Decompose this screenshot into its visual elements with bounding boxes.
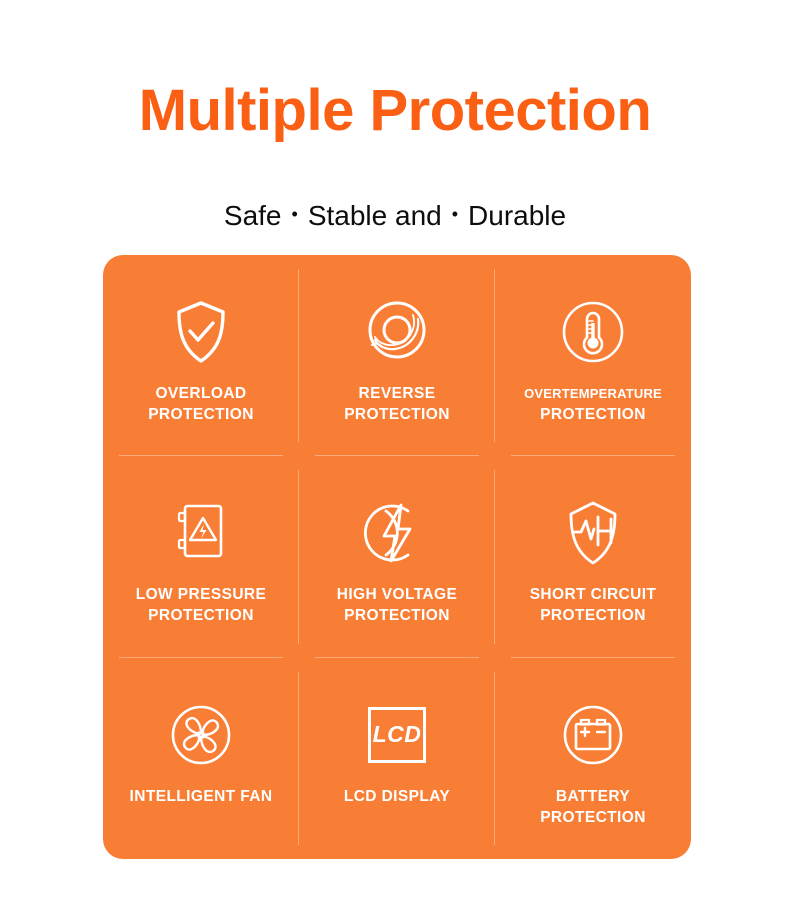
subtitle-part-1: Safe: [224, 200, 282, 231]
feature-cell-battery-protection: BATTERY PROTECTION: [495, 658, 691, 859]
bullet-separator-icon: •: [442, 205, 468, 223]
feature-label-reverse-protection: REVERSE PROTECTION: [344, 383, 450, 425]
feature-cell-reverse-protection: REVERSE PROTECTION: [299, 255, 495, 456]
bullet-separator-icon: •: [282, 205, 308, 223]
feature-cell-high-voltage-protection: HIGH VOLTAGE PROTECTION: [299, 456, 495, 657]
reverse-spiral-icon: [364, 289, 430, 375]
lcd-box-outline: LCD: [368, 707, 426, 763]
lightning-bolt-icon: [364, 490, 430, 576]
feature-label-battery-protection: BATTERY PROTECTION: [540, 786, 646, 828]
feature-label-overload-protection: OVERLOAD PROTECTION: [148, 383, 254, 425]
fan-icon: [168, 692, 234, 778]
lcd-box-text: LCD: [373, 723, 422, 746]
feature-cell-overload-protection: OVERLOAD PROTECTION: [103, 255, 299, 456]
shield-waveform-icon: [562, 490, 624, 576]
feature-label-overtemperature-protection: OVERTEMPERATURE PROTECTION: [524, 383, 662, 425]
page-subtitle: Safe•Stable and•Durable: [0, 199, 790, 233]
feature-cell-low-pressure-protection: LOW PRESSURE PROTECTION: [103, 456, 299, 657]
feature-label-lcd-display: LCD DISPLAY: [344, 786, 450, 807]
subtitle-part-3: Durable: [468, 200, 566, 231]
multiple-protection-page: Multiple Protection Safe•Stable and•Dura…: [0, 0, 790, 898]
lcd-box-icon: LCD: [368, 692, 426, 778]
feature-label-high-voltage-protection: HIGH VOLTAGE PROTECTION: [337, 584, 457, 626]
feature-cell-lcd-display: LCD LCD DISPLAY: [299, 658, 495, 859]
electrical-box-hazard-icon: [168, 490, 234, 576]
subtitle-part-2: Stable and: [308, 200, 442, 231]
feature-cell-overtemperature-protection: OVERTEMPERATURE PROTECTION: [495, 255, 691, 456]
page-title: Multiple Protection: [0, 78, 790, 144]
protection-features-grid: OVERLOAD PROTECTION REVERSE PROTECTION: [103, 255, 691, 859]
shield-check-icon: [171, 289, 231, 375]
feature-label-intelligent-fan: INTELLIGENT FAN: [130, 786, 273, 807]
battery-icon: [560, 692, 626, 778]
feature-cell-short-circuit-protection: SHORT CIRCUIT PROTECTION: [495, 456, 691, 657]
feature-cell-intelligent-fan: INTELLIGENT FAN: [103, 658, 299, 859]
feature-label-short-circuit-protection: SHORT CIRCUIT PROTECTION: [530, 584, 657, 626]
thermometer-icon: [560, 289, 626, 375]
feature-label-low-pressure-protection: LOW PRESSURE PROTECTION: [136, 584, 267, 626]
